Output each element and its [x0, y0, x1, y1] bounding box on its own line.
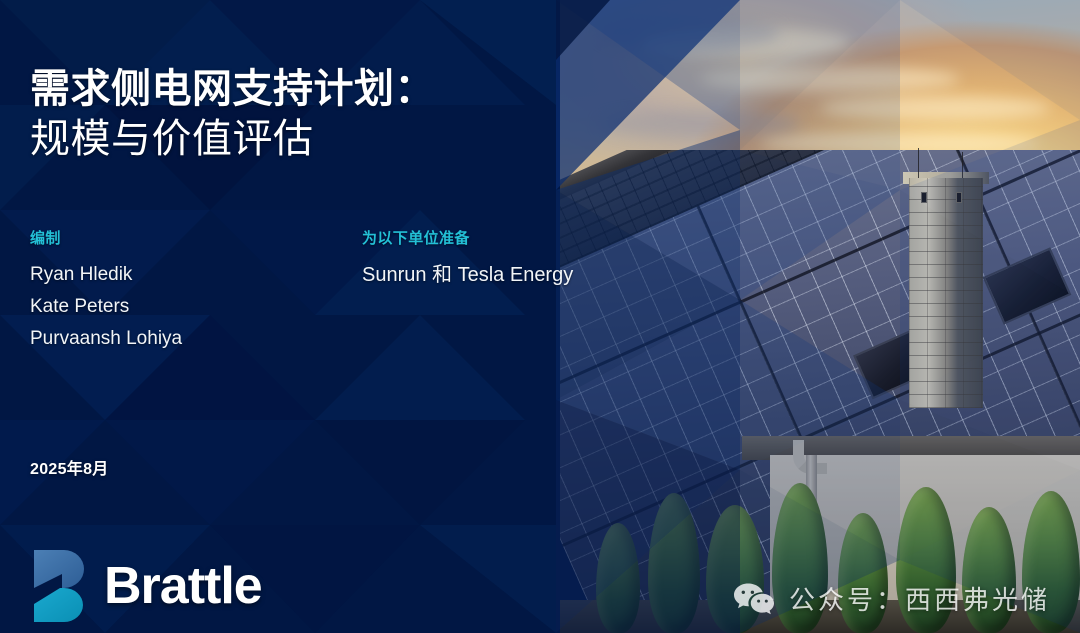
- report-cover-slide: 需求侧电网支持计划： 规模与价值评估 编制 Ryan Hledik Kate P…: [0, 0, 1080, 633]
- author-name: Ryan Hledik: [30, 259, 350, 291]
- author-name: Purvaansh Lohiya: [30, 323, 350, 355]
- client-label: 为以下单位准备: [362, 228, 662, 250]
- wechat-icon: [733, 582, 775, 616]
- authors-column: 编制 Ryan Hledik Kate Peters Purvaansh Loh…: [30, 228, 350, 355]
- client-name: Sunrun 和 Tesla Energy: [362, 259, 662, 291]
- client-column: 为以下单位准备 Sunrun 和 Tesla Energy: [362, 228, 662, 291]
- wechat-watermark: 公众号：西西弗光储: [733, 580, 1050, 617]
- authors-label: 编制: [30, 228, 350, 250]
- page-title: 需求侧电网支持计划： 规模与价值评估: [30, 64, 570, 164]
- title-line-1: 需求侧电网支持计划：: [30, 64, 570, 114]
- watermark-text: 公众号：西西弗光储: [789, 580, 1050, 617]
- brattle-logo: Brattle: [30, 548, 262, 624]
- publication-date: 2025年8月: [30, 455, 109, 479]
- brattle-wordmark: Brattle: [104, 556, 262, 616]
- author-name: Kate Peters: [30, 291, 350, 323]
- brattle-b-logomark: [30, 548, 88, 624]
- title-line-2: 规模与价值评估: [30, 114, 570, 164]
